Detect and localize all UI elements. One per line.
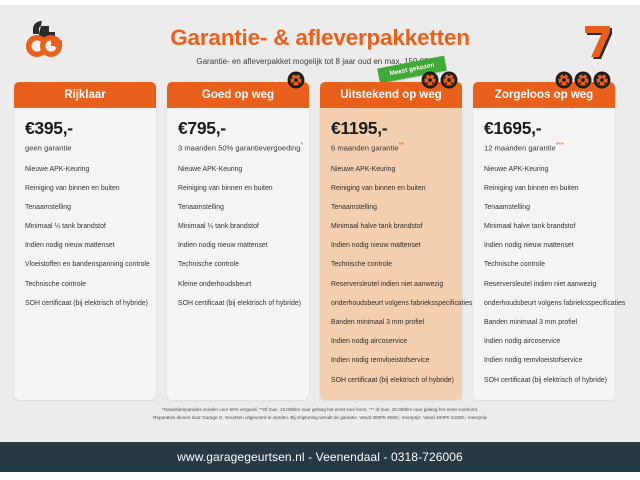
package-card-uitstekend-op-weg[interactable]: Meest gekozen Uitstekend op weg €1195,- … xyxy=(320,82,462,400)
feature-item: Indien nodig nieuw mattenset xyxy=(25,242,145,250)
price-sub-text: 6 maanden garantie xyxy=(331,144,399,153)
package-price: €795,- xyxy=(178,118,298,139)
feature-item: Technische controle xyxy=(484,261,604,269)
footnotes: *Garantiereparaties worden voor 50% verg… xyxy=(0,406,640,423)
feature-item: Reiniging van binnen en buiten xyxy=(331,185,451,193)
feature-item: Nieuwe APK-Keuring xyxy=(331,166,451,174)
feature-item: SOH certificaat (bij elektrisch of hybri… xyxy=(484,377,604,385)
feature-item: Minimaal halve tank brandstof xyxy=(331,223,451,231)
package-cards: Rijklaar €395,- geen garantie Nieuwe APK… xyxy=(14,82,626,402)
footnote-line-1: *Garantiereparaties worden voor 50% verg… xyxy=(0,406,640,414)
wheel-icon xyxy=(593,71,611,89)
feature-item: Nieuwe APK-Keuring xyxy=(484,166,604,174)
feature-item: Tenaamstelling xyxy=(25,204,145,212)
feature-item: Vloeistoffen en bandenspanning controle xyxy=(25,261,145,269)
feature-item: Minimaal ¼ tank brandstof xyxy=(25,223,145,231)
feature-item: Technische controle xyxy=(331,261,451,269)
price-sub-text: geen garantie xyxy=(25,144,71,153)
feature-item: Kleine onderhoudsbeurt xyxy=(178,281,298,289)
feature-item: Indien nodig remvloeistofservice xyxy=(331,357,451,365)
package-price-subtitle: 12 maanden garantie*** xyxy=(484,142,604,153)
feature-item: Reserversleutel indien niet aanwezig xyxy=(331,281,451,289)
wheel-rating-badges xyxy=(287,71,305,89)
package-price-subtitle: 6 maanden garantie** xyxy=(331,142,451,153)
package-body: €1195,- 6 maanden garantie** Nieuwe APK-… xyxy=(320,108,462,384)
footer-contact-text: www.garagegeurtsen.nl - Veenendaal - 031… xyxy=(177,450,463,464)
feature-item: Reiniging van binnen en buiten xyxy=(25,185,145,193)
price-sub-text: 3 maanden 50% garantievergoeding xyxy=(178,144,300,153)
feature-item: Technische controle xyxy=(25,281,145,289)
poster-canvas: Garantie- & afleverpakketten Garantie- e… xyxy=(0,0,640,480)
package-price: €395,- xyxy=(25,118,145,139)
feature-item: Indien nodig remvloeistofservice xyxy=(484,357,604,365)
feature-item: Indien nodig nieuw mattenset xyxy=(331,242,451,250)
price-sub-footnote-mark: *** xyxy=(556,142,564,149)
feature-item: onderhoudsbeurt volgens fabrieksspecific… xyxy=(484,300,604,308)
package-body: €1695,- 12 maanden garantie*** Nieuwe AP… xyxy=(473,108,615,384)
package-body: €795,- 3 maanden 50% garantievergoeding*… xyxy=(167,108,309,307)
feature-item: SOH certificaat (bij elektrisch of hybri… xyxy=(331,377,451,385)
wheel-rating-badges xyxy=(555,71,611,89)
package-price: €1195,- xyxy=(331,118,451,139)
contact-footer-bar: www.garagegeurtsen.nl - Veenendaal - 031… xyxy=(0,442,640,472)
feature-item: onderhoudsbeurt volgens fabrieksspecific… xyxy=(331,300,451,308)
package-body: €395,- geen garantie Nieuwe APK-Keuring … xyxy=(14,108,156,307)
price-sub-footnote-mark: ** xyxy=(399,142,404,149)
feature-item: Indien nodig aircoservice xyxy=(331,338,451,346)
feature-item: Banden minimaal 3 mm profiel xyxy=(484,319,604,327)
package-card-goed-op-weg[interactable]: Goed op weg €795,- 3 maanden 50% garanti… xyxy=(167,82,309,400)
package-price-subtitle: geen garantie xyxy=(25,142,145,153)
feature-item: Minimaal ¼ tank brandstof xyxy=(178,223,298,231)
package-title: Rijklaar xyxy=(14,82,156,108)
feature-item: Minimaal halve tank brandstof xyxy=(484,223,604,231)
feature-item: Indien nodig nieuw mattenset xyxy=(178,242,298,250)
wheel-icon xyxy=(440,71,458,89)
package-card-rijklaar[interactable]: Rijklaar €395,- geen garantie Nieuwe APK… xyxy=(14,82,156,400)
wheel-icon xyxy=(555,71,573,89)
price-sub-footnote-mark: * xyxy=(300,142,303,149)
feature-item: Nieuwe APK-Keuring xyxy=(25,166,145,174)
wheel-icon xyxy=(421,71,439,89)
bottom-white-edge xyxy=(0,472,640,480)
package-price-subtitle: 3 maanden 50% garantievergoeding* xyxy=(178,142,298,153)
package-card-zorgeloos-op-weg[interactable]: Zorgeloos op weg €1695,- 12 maanden gara… xyxy=(473,82,615,400)
feature-item: Reserversleutel indien niet aanwezig xyxy=(484,281,604,289)
feature-item: Tenaamstelling xyxy=(178,204,298,212)
footnote-line-2: Reparaties dienen door Garage G. Geurtse… xyxy=(0,414,640,422)
feature-item: SOH certificaat (bij elektrisch of hybri… xyxy=(178,300,298,308)
feature-item: Indien nodig aircoservice xyxy=(484,338,604,346)
feature-item: SOH certificaat (bij elektrisch of hybri… xyxy=(25,300,145,308)
page-subtitle: Garantie- en afleverpakket mogelijk tot … xyxy=(0,57,640,66)
feature-item: Indien nodig nieuw mattenset xyxy=(484,242,604,250)
feature-item: Tenaamstelling xyxy=(484,204,604,212)
page-title: Garantie- & afleverpakketten xyxy=(0,25,640,51)
number-seven-icon xyxy=(574,17,620,63)
wheel-rating-badges xyxy=(421,71,458,89)
feature-item: Technische controle xyxy=(178,261,298,269)
feature-item: Nieuwe APK-Keuring xyxy=(178,166,298,174)
wheel-icon xyxy=(287,71,305,89)
package-price: €1695,- xyxy=(484,118,604,139)
poster-header: Garantie- & afleverpakketten Garantie- e… xyxy=(0,5,640,67)
price-sub-text: 12 maanden garantie xyxy=(484,144,556,153)
feature-item: Reiniging van binnen en buiten xyxy=(178,185,298,193)
feature-item: Reiniging van binnen en buiten xyxy=(484,185,604,193)
wheel-icon xyxy=(574,71,592,89)
feature-item: Tenaamstelling xyxy=(331,204,451,212)
feature-item: Banden minimaal 3 mm profiel xyxy=(331,319,451,327)
